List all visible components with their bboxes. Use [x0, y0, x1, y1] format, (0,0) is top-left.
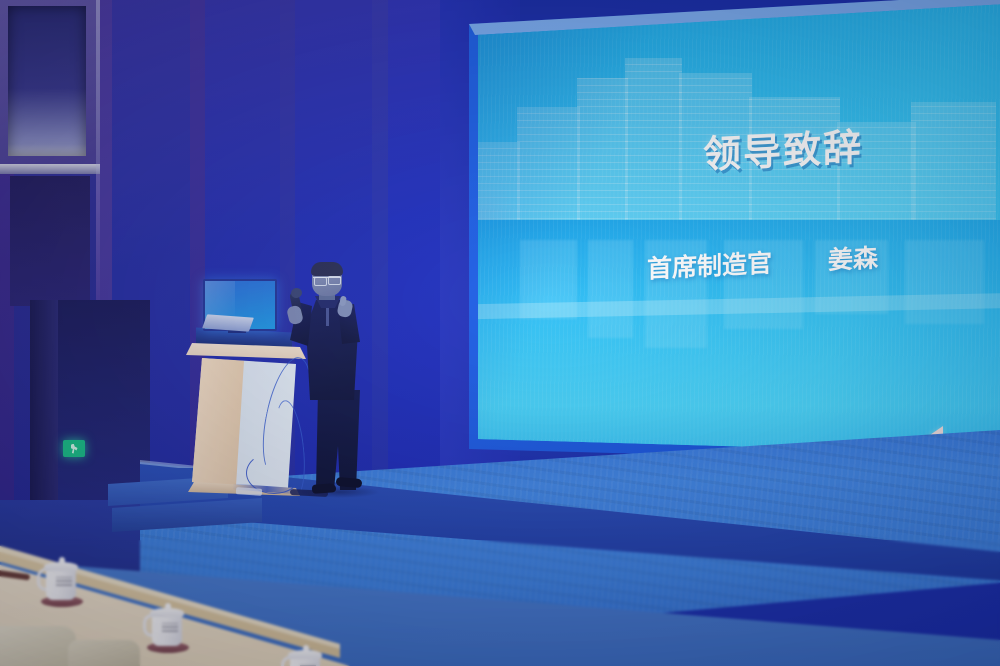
cup-body — [46, 568, 76, 600]
chair — [0, 626, 76, 666]
glasses-lens-left — [314, 277, 327, 286]
cup-lid-knob — [303, 645, 309, 652]
wall-alcove-recess — [8, 6, 86, 156]
speaker-shoe-left — [312, 483, 337, 494]
slide-subtitle-role: 首席制造官 — [647, 244, 772, 286]
lidded-tea-cup — [44, 558, 80, 604]
cup-logo — [56, 577, 72, 586]
door-jamb — [30, 300, 58, 530]
chair — [68, 640, 140, 666]
lidded-tea-cup — [288, 646, 324, 666]
glasses-lens-right — [328, 276, 341, 285]
led-screen[interactable]: 领导致辞 首席制造官 姜森 — [441, 0, 1000, 486]
speaker-hair — [311, 262, 343, 276]
exit-running-figure-icon — [71, 444, 78, 454]
wall-alcove-ledge — [0, 164, 100, 174]
cup-logo — [162, 623, 178, 632]
screen-scanlines — [441, 0, 1000, 486]
slide-title: 领导致辞 — [703, 116, 863, 179]
emergency-exit-icon — [63, 440, 85, 457]
slide-subtitle-name: 姜森 — [828, 238, 878, 276]
wall-alcove-lower — [10, 176, 90, 306]
presentation-photo-scene: 领导致辞 首席制造官 姜森 — [0, 0, 1000, 666]
lidded-tea-cup — [150, 604, 186, 650]
wall-edge-highlight — [96, 0, 100, 300]
cup-lid-knob — [165, 603, 171, 610]
cup-lid-knob — [59, 557, 65, 564]
cup-body — [152, 614, 182, 646]
